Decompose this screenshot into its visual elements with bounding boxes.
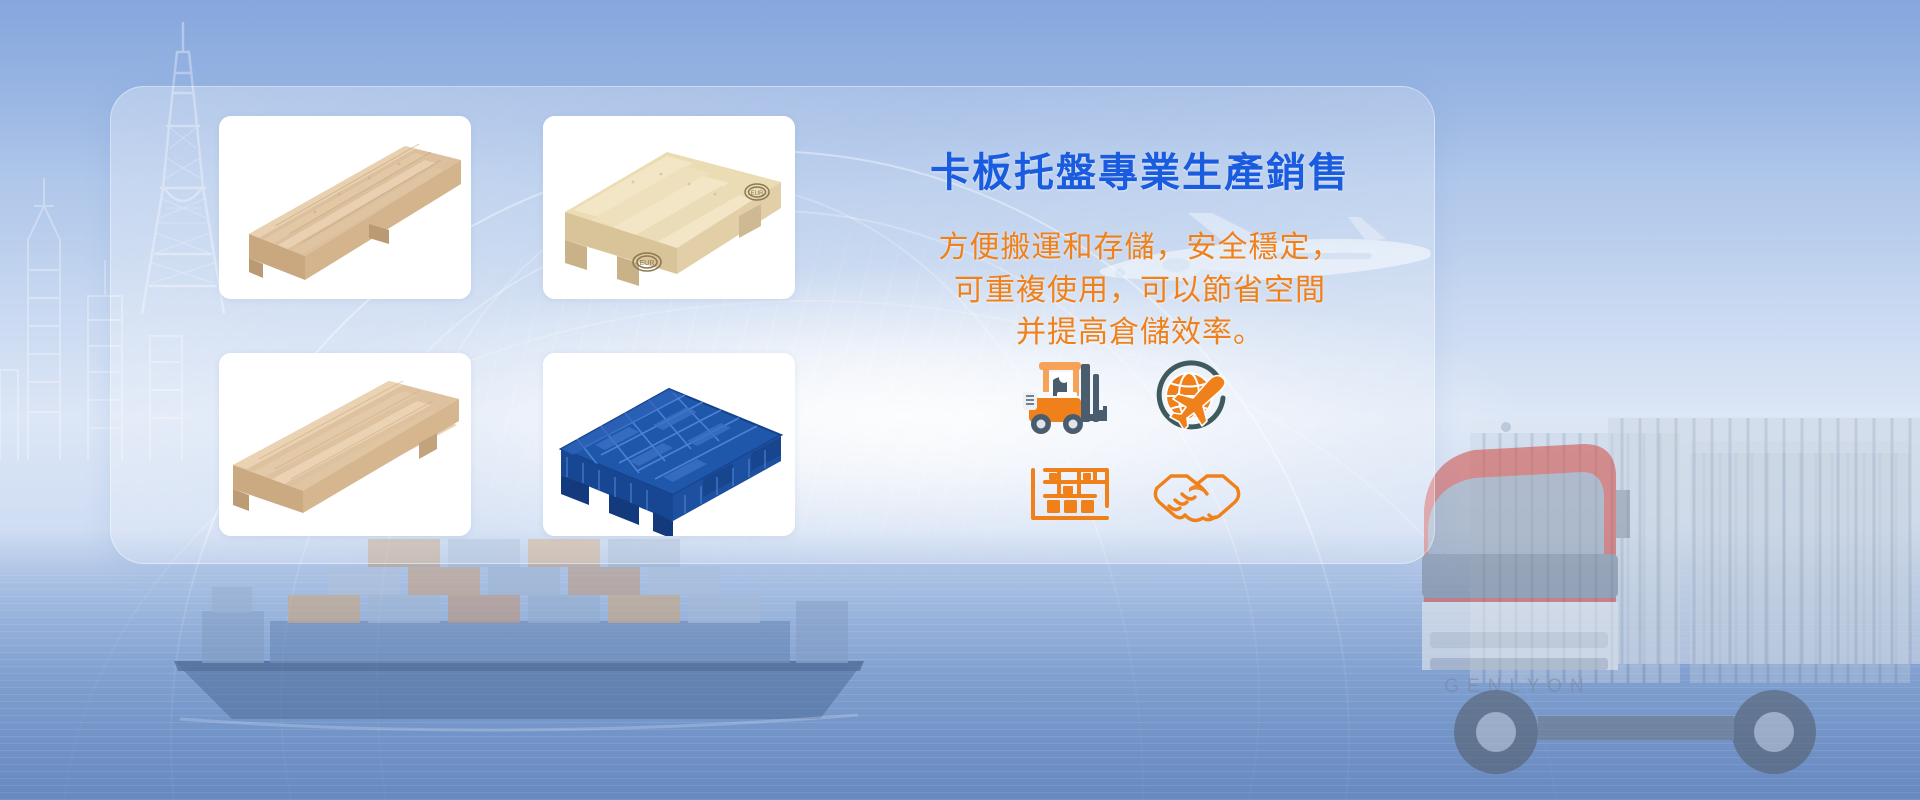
svg-text:EUR: EUR (751, 191, 764, 197)
warehouse-icon[interactable] (1023, 456, 1119, 536)
page-title: 卡板托盤專業生產銷售 (905, 150, 1375, 197)
feature-icons (1015, 358, 1275, 538)
forklift-icon[interactable] (1015, 358, 1111, 438)
handshake-icon[interactable] (1149, 458, 1245, 538)
product-card-wood-pallet-euro[interactable]: EUR EUR (543, 116, 795, 299)
text-block: 卡板托盤專業生產銷售 方便搬運和存儲，安全穩定， 可重複使用，可以節省空間 并提… (905, 150, 1375, 355)
subtitle-line-3: 并提高倉儲效率。 (905, 312, 1375, 355)
product-gallery: EUR EUR (219, 116, 799, 536)
subtitle: 方便搬運和存儲，安全穩定， 可重複使用，可以節省空間 并提高倉儲效率。 (905, 227, 1375, 355)
globe-plane-icon[interactable] (1145, 356, 1241, 436)
svg-text:GENLYON: GENLYON (1444, 676, 1592, 697)
svg-text:EUR: EUR (640, 260, 655, 267)
sea-water (0, 530, 1920, 800)
water-shimmer (0, 570, 1920, 800)
cargo-truck-icon: GENLYON (1370, 340, 1920, 780)
promo-banner: GENLYON (0, 0, 1920, 800)
product-card-wood-pallet-plain[interactable] (219, 353, 471, 536)
subtitle-line-2: 可重複使用，可以節省空間 (905, 270, 1375, 313)
product-card-wood-pallet-light[interactable] (219, 116, 471, 299)
shipping-containers-icon (1450, 375, 1920, 705)
subtitle-line-1: 方便搬運和存儲，安全穩定， (905, 227, 1375, 270)
product-card-plastic-pallet-blue[interactable] (543, 353, 795, 536)
